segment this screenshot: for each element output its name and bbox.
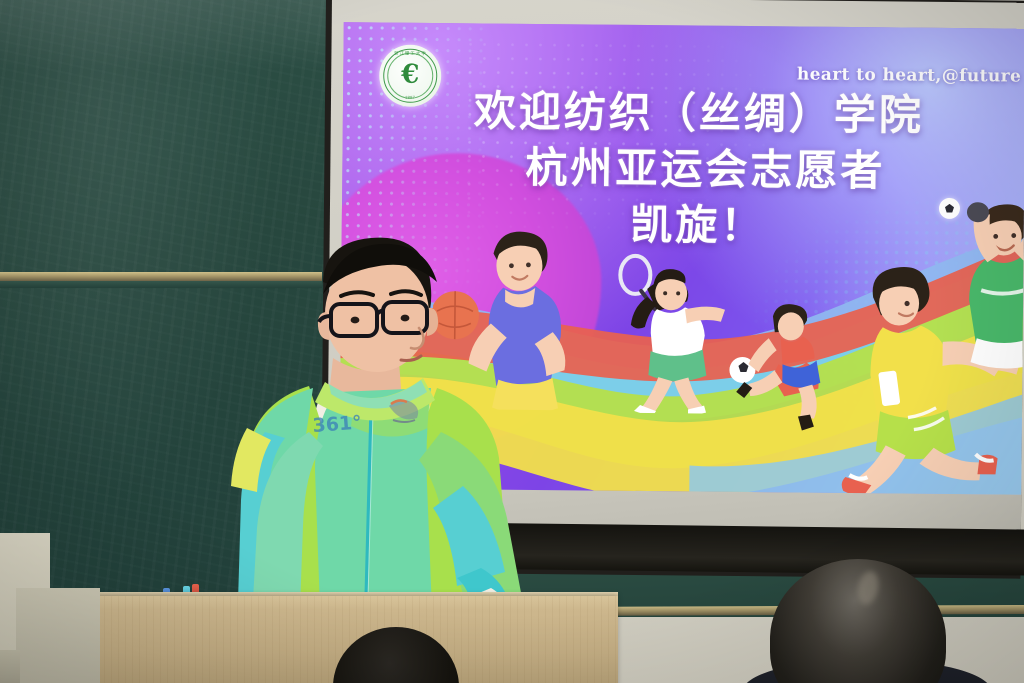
chalk-smudge [0,0,330,70]
volunteer-speaker: 361° [205,236,535,636]
illustration-badminton-player [588,242,740,418]
banner-slogan: heart to heart,@future [797,64,1022,86]
svg-text:361°: 361° [312,412,363,437]
classroom-scene: 浙江理工大学 € 1897 heart to heart,@future 欢迎纺… [0,0,1024,683]
banner-title-line-2: 杭州亚运会志愿者 [398,139,999,201]
banner-title: 欢迎纺织（丝绸）学院 杭州亚运会志愿者 凯旋！ [398,83,1000,256]
emblem-top-arc-text: 浙江理工大学 [379,50,441,57]
side-panel-base [0,650,20,683]
side-panel-lower [16,588,100,683]
banner-title-line-1: 欢迎纺织（丝绸）学院 [399,83,1000,145]
